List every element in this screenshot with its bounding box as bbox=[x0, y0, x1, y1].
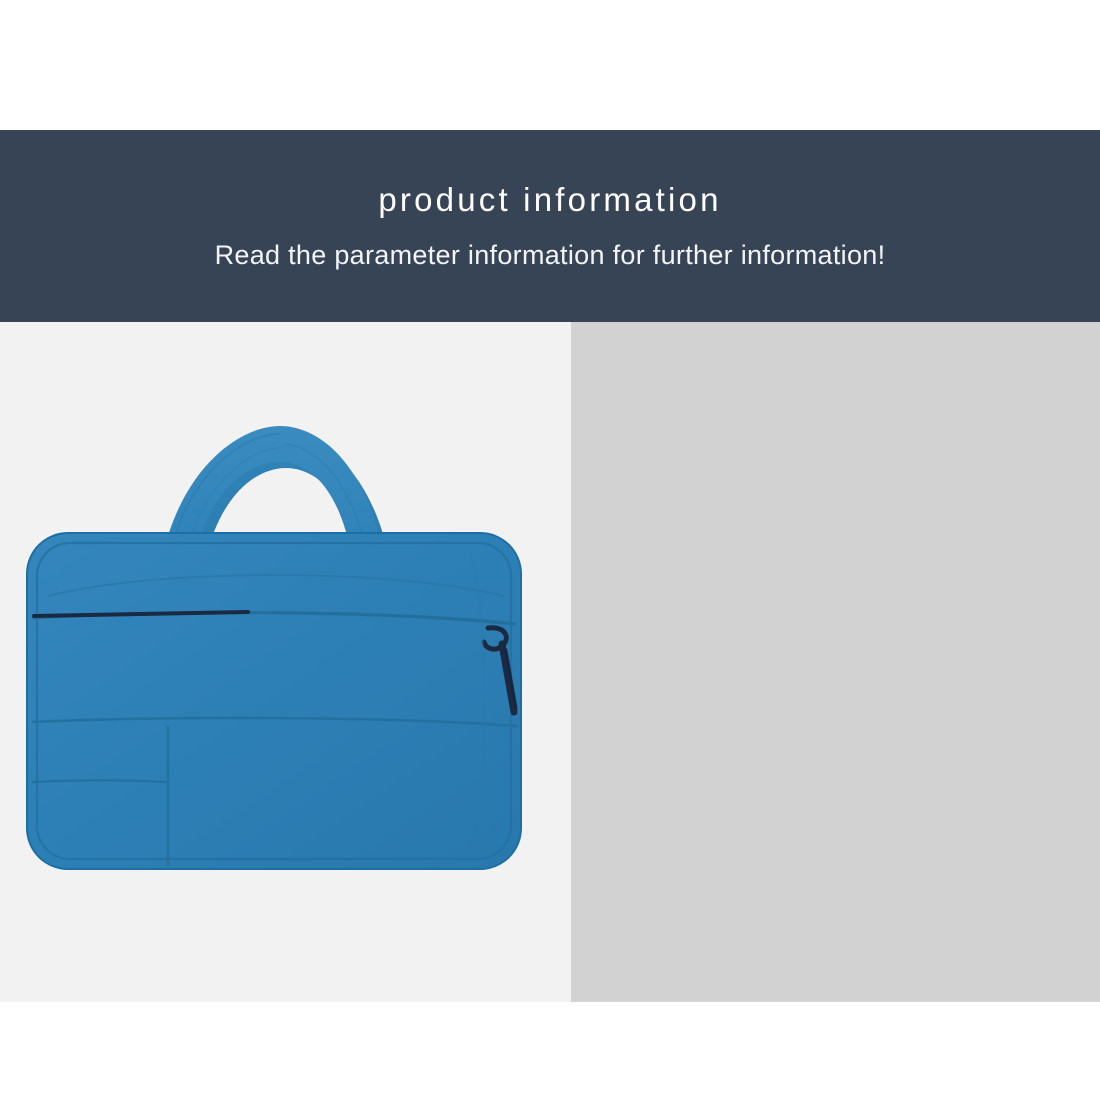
laptop-bag-icon bbox=[18, 382, 538, 922]
bag-stage bbox=[0, 322, 571, 1002]
content-area: inch external internal weight 11.6 33.5×… bbox=[0, 322, 1100, 1002]
page-title: product information bbox=[378, 183, 721, 216]
spec-table-panel: inch external internal weight 11.6 33.5×… bbox=[571, 322, 1100, 1002]
product-image-panel bbox=[0, 322, 571, 1002]
bag-body bbox=[26, 532, 522, 870]
page-subtitle: Read the parameter information for furth… bbox=[215, 242, 886, 269]
header-banner: product information Read the parameter i… bbox=[0, 130, 1100, 322]
product-information-page: product information Read the parameter i… bbox=[0, 0, 1100, 1100]
